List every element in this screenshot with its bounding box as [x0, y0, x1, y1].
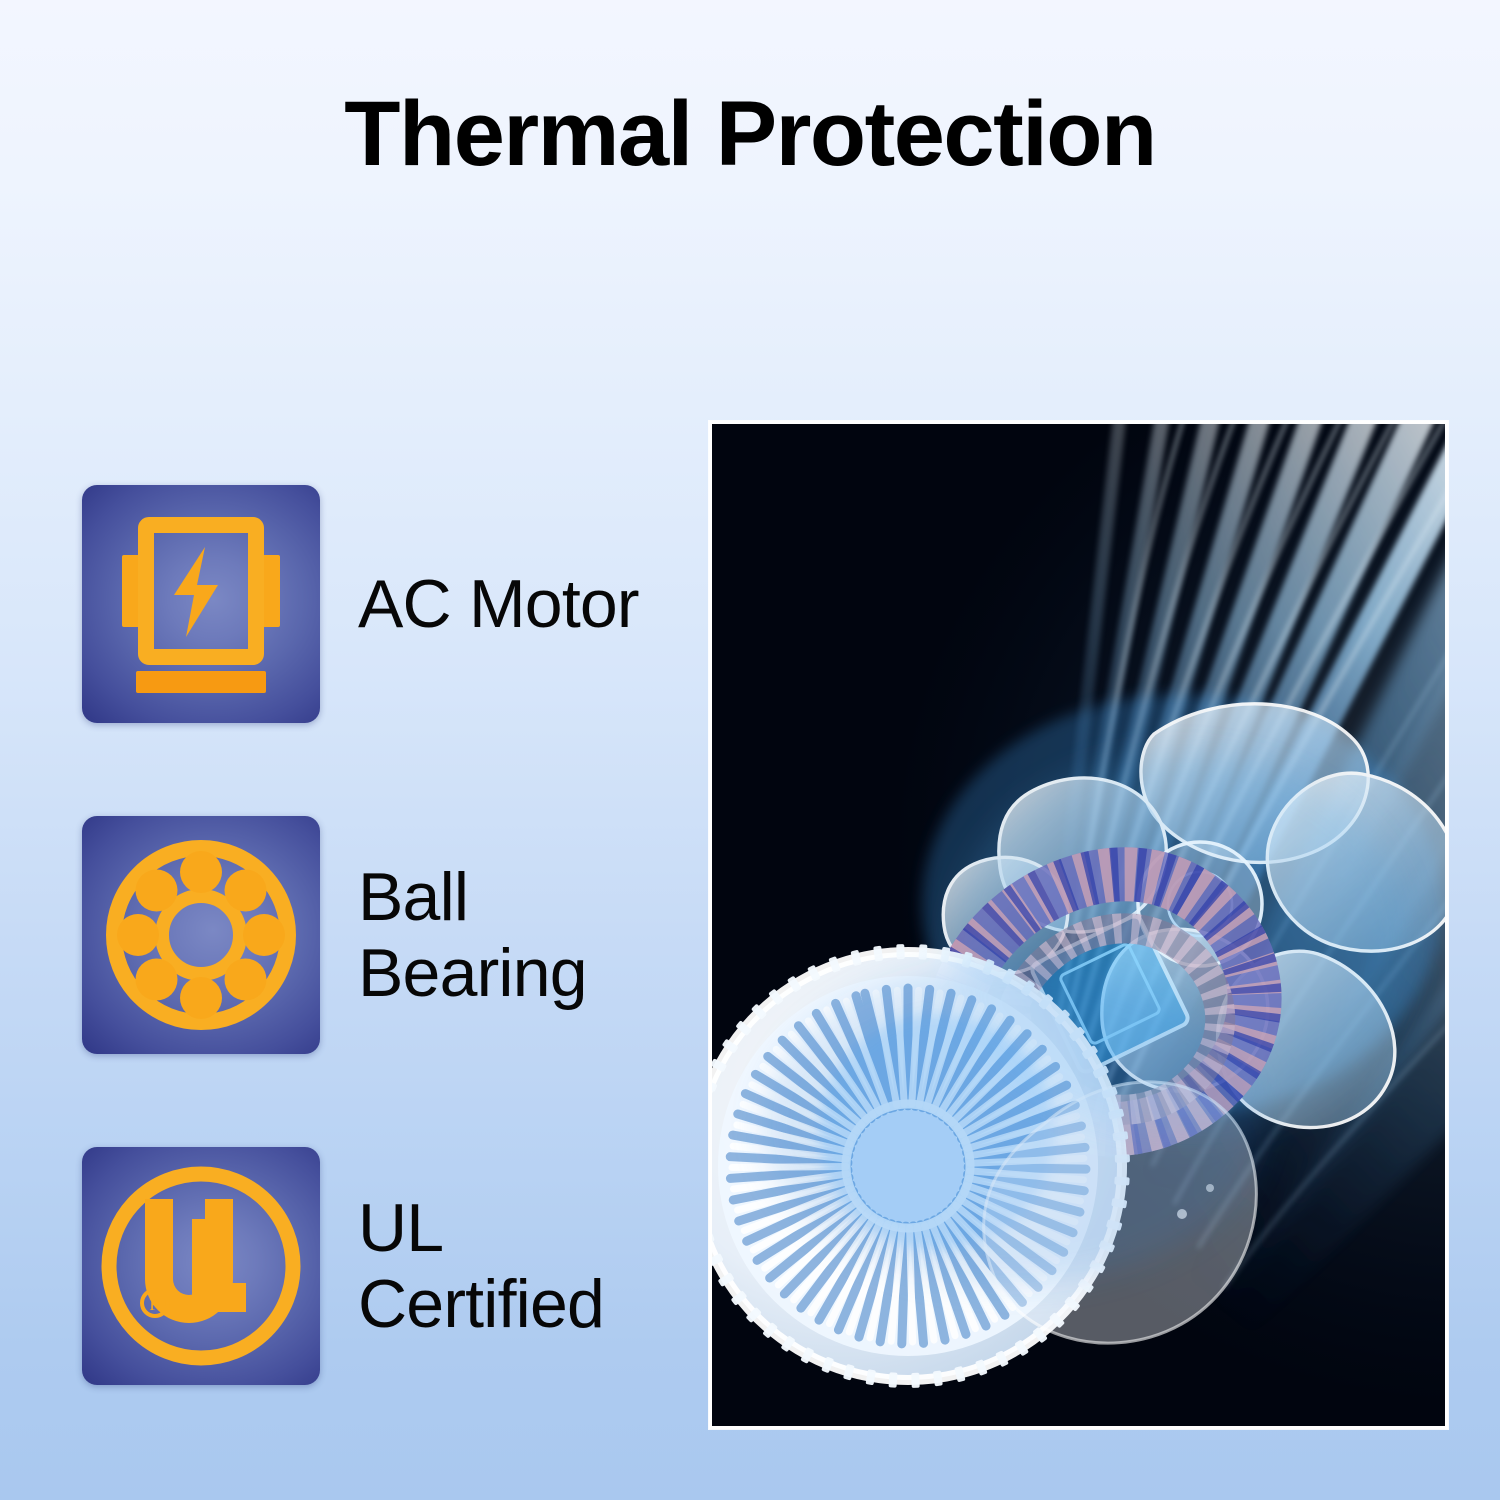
- page-title: Thermal Protection: [0, 86, 1500, 183]
- ball-bearing-icon-tile: [82, 816, 320, 1054]
- fan-motor-illustration: [712, 424, 1445, 1426]
- ball-bearing-icon: [82, 816, 320, 1054]
- product-image: [712, 424, 1445, 1426]
- ac-motor-icon-tile: [82, 485, 320, 723]
- infographic-page: Thermal Protection AC Motor: [0, 0, 1500, 1500]
- ul-certified-icon: R: [82, 1147, 320, 1385]
- product-image-frame: [709, 421, 1448, 1429]
- registered-mark-glyph: R: [149, 1295, 161, 1314]
- ul-certified-icon-tile: R: [82, 1147, 320, 1385]
- feature-item-ac-motor: AC Motor: [82, 485, 682, 723]
- feature-label-ball-bearing: Ball Bearing: [358, 859, 587, 1011]
- feature-label-ul-certified: UL Certified: [358, 1190, 604, 1342]
- feature-list: AC Motor: [82, 485, 682, 1385]
- feature-item-ul-certified: R UL Certified: [82, 1147, 682, 1385]
- ac-motor-icon: [82, 485, 320, 723]
- feature-label-ac-motor: AC Motor: [358, 566, 639, 642]
- feature-item-ball-bearing: Ball Bearing: [82, 816, 682, 1054]
